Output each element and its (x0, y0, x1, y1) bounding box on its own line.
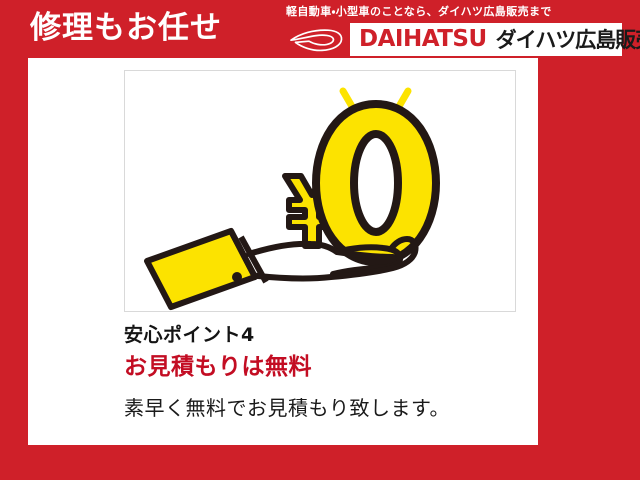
copy-block: 安心ポイント4 お見積もりは無料 素早く無料でお見積もり致します。 (124, 322, 524, 423)
logo-dealer-name: ダイハツ広島販売 (496, 29, 640, 51)
promo-banner: 修理もお任せ 軽自動車・小型車のことなら、ダイハツ広島販売まで DAIHATSU… (0, 0, 640, 480)
brand-logo-lockup: 軽自動車・小型車のことなら、ダイハツ広島販売まで DAIHATSU ダイハツ広島… (282, 3, 622, 56)
logo-tagline: 軽自動車・小型車のことなら、ダイハツ広島販売まで (286, 3, 552, 20)
banner-header: 修理もお任せ 軽自動車・小型車のことなら、ダイハツ広島販売まで DAIHATSU… (0, 0, 640, 58)
logo-wordmark: DAIHATSU (359, 28, 487, 51)
content-panel: 安心ポイント4 お見積もりは無料 素早く無料でお見積もり致します。 (28, 58, 538, 445)
point-description: 素早く無料でお見積もり致します。 (124, 393, 524, 423)
illustration-card (124, 70, 516, 312)
hand-holding-zero-yen-icon (125, 71, 515, 311)
yellow-sleeve (147, 231, 266, 307)
headline: 修理もお任せ (30, 9, 222, 47)
zero-digit (316, 104, 436, 262)
point-title: お見積もりは無料 (124, 351, 524, 383)
logo-band: DAIHATSU ダイハツ広島販売 (282, 23, 622, 56)
daihatsu-d-mark-icon (282, 23, 350, 56)
point-label: 安心ポイント4 (124, 322, 524, 348)
